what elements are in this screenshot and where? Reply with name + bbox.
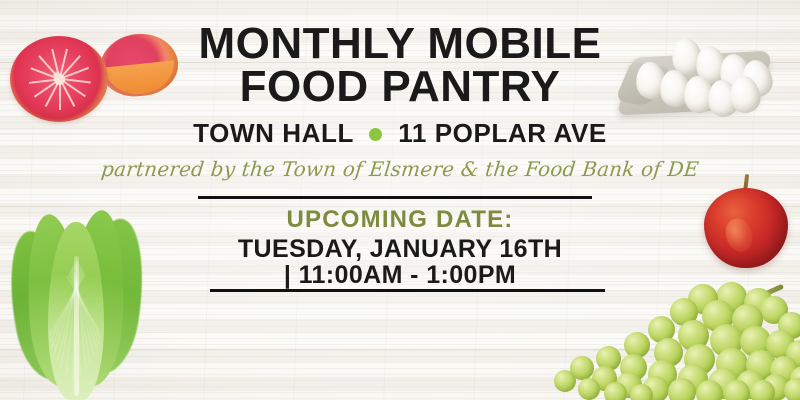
bullet-separator-icon (369, 128, 382, 141)
food-pantry-flyer: MONTHLY MOBILE FOOD PANTRY TOWN HALL 11 … (0, 0, 800, 400)
venue-line: TOWN HALL 11 POPLAR AVE (0, 118, 800, 149)
page-title: MONTHLY MOBILE FOOD PANTRY (0, 22, 800, 108)
venue-address: 11 POPLAR AVE (398, 118, 607, 148)
event-date: TUESDAY, JANUARY 16TH (0, 235, 800, 264)
event-time: | 11:00AM - 1:00PM (0, 261, 800, 290)
flyer-text-content: MONTHLY MOBILE FOOD PANTRY TOWN HALL 11 … (0, 0, 800, 400)
venue-name: TOWN HALL (193, 118, 353, 148)
headline-line-1: MONTHLY MOBILE (0, 22, 800, 65)
divider-top (198, 196, 592, 199)
headline-line-2: FOOD PANTRY (0, 65, 800, 108)
divider-bottom (210, 289, 605, 292)
upcoming-date-label: UPCOMING DATE: (0, 206, 800, 234)
partner-credit: partnered by the Town of Elsmere & the F… (0, 157, 800, 181)
